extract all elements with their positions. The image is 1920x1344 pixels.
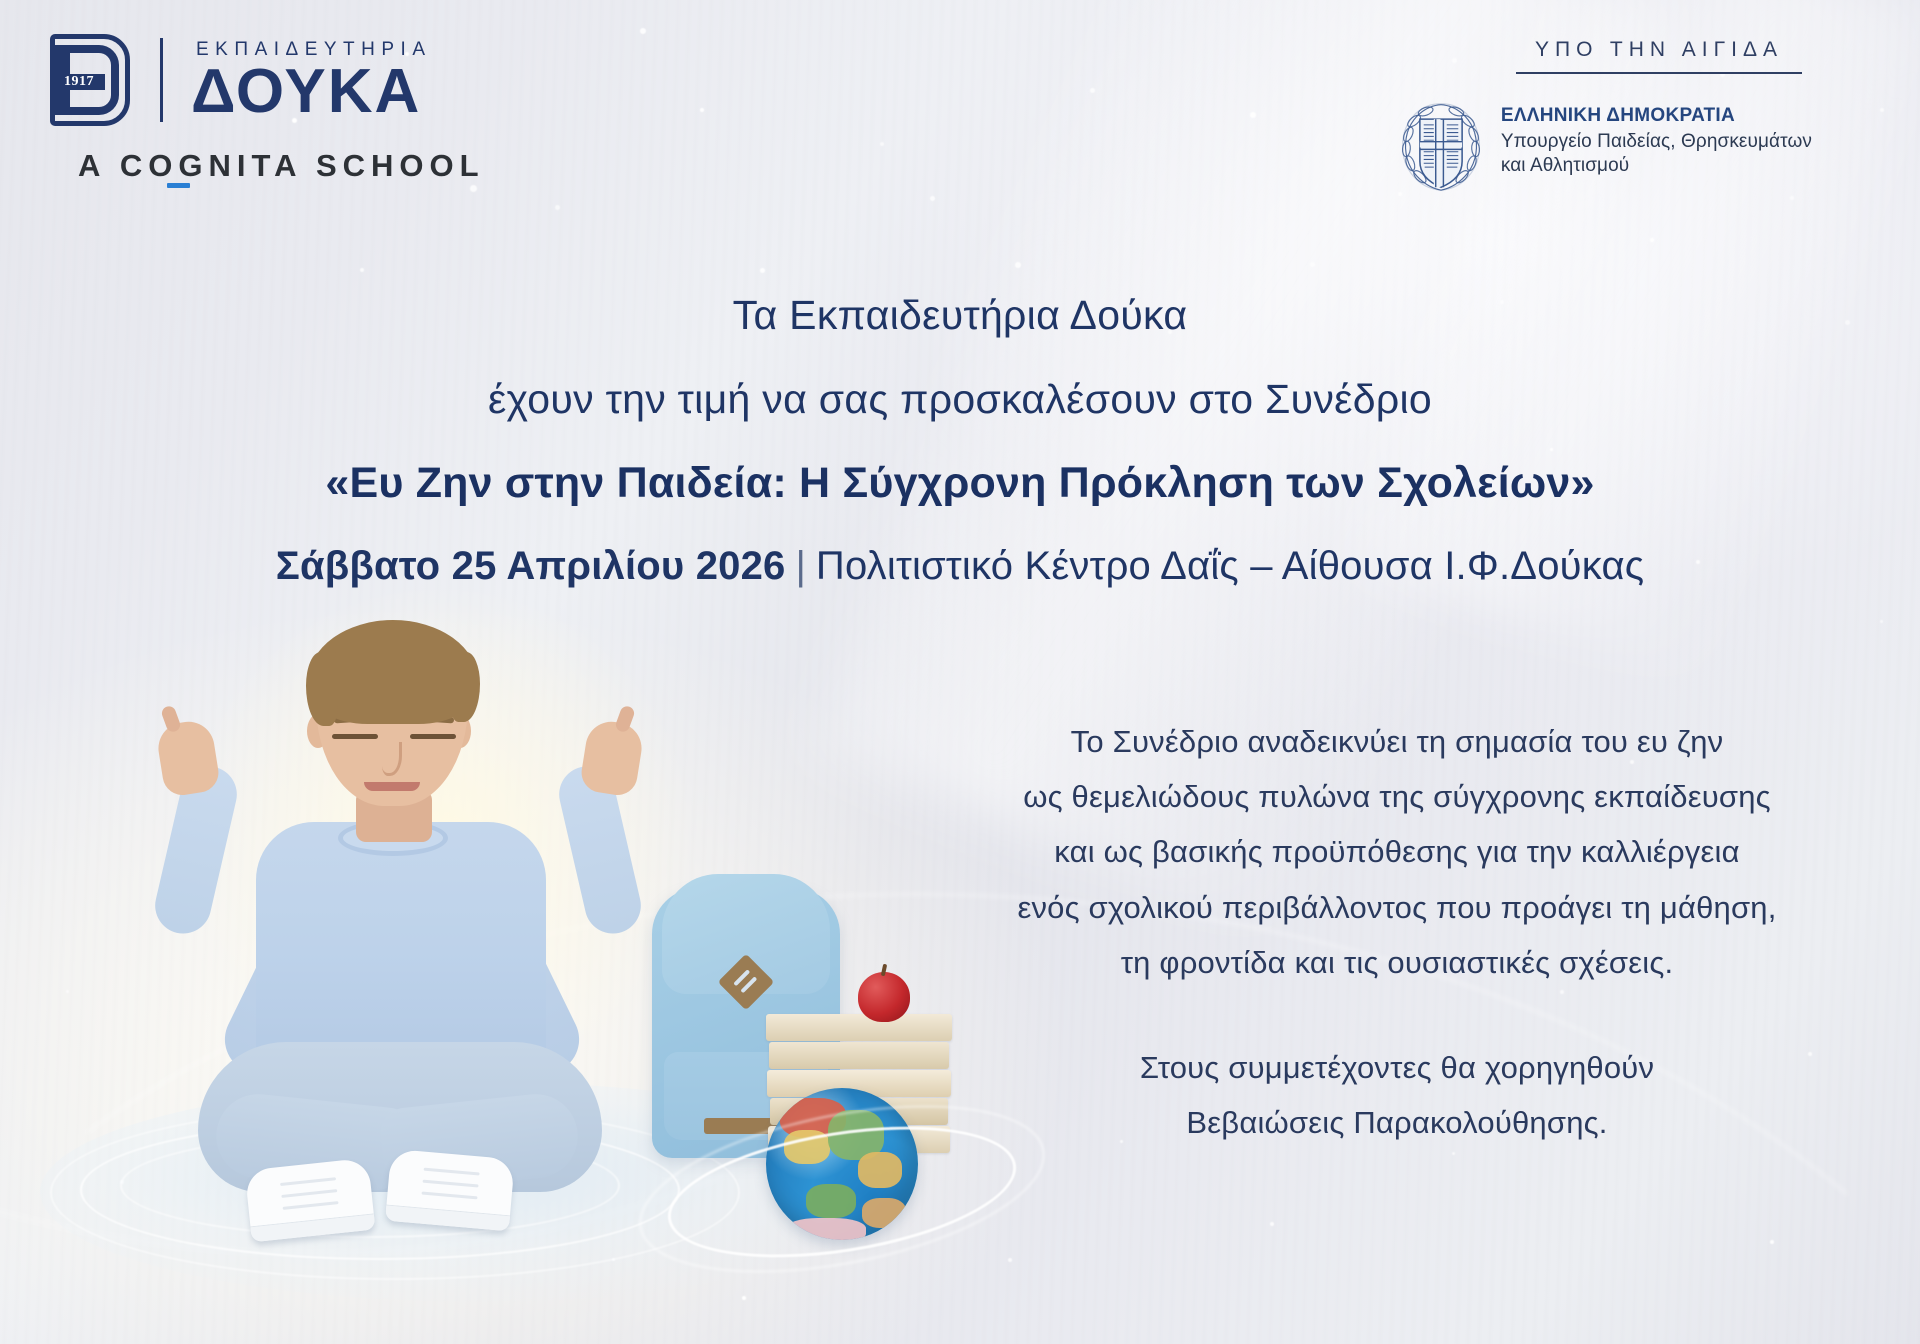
bokeh-dot (1650, 238, 1654, 242)
cognita-underline-accent (167, 183, 190, 188)
bokeh-dot (1790, 196, 1794, 200)
desc-p1-line-3: και ως βασικής προϋπόθεσης για την καλλι… (1054, 834, 1739, 869)
bokeh-dot (760, 268, 765, 273)
description-paragraph-2: Στους συμμετέχοντες θα χορηγηθούν Βεβαιώ… (982, 1040, 1812, 1150)
bokeh-dot (1270, 1222, 1274, 1226)
bokeh-dot (1770, 1240, 1774, 1244)
sneaker-left (245, 1158, 376, 1243)
bokeh-dot (360, 268, 364, 272)
desc-p2-line-2: Βεβαιώσεις Παρακολούθησης. (1186, 1105, 1607, 1140)
date-venue-separator: | (796, 544, 806, 588)
bokeh-dot (1452, 1152, 1455, 1155)
bokeh-dot (880, 142, 884, 146)
invitation-heading-block: Τα Εκπαιδευτήρια Δούκα έχουν την τιμή να… (0, 292, 1920, 589)
bokeh-dot (1015, 262, 1021, 268)
aegis-rule (1516, 72, 1802, 74)
aegis-label: ΥΠΟ ΤΗΝ ΑΙΓΙΔΑ (1516, 38, 1802, 62)
date-venue-line: Σάββατο 25 Απριλίου 2026|Πολιτιστικό Κέν… (0, 544, 1920, 589)
logo-wordmark: ΕΚΠΑΙΔΕΥΤΗΡΙΑ ΔΟΥΚΑ (191, 39, 432, 122)
conference-description: Το Συνέδριο αναδεικνύει τη σημασία του ε… (982, 714, 1812, 1150)
desc-p1-line-5: τη φροντίδα και τις ουσιαστικές σχέσεις. (1121, 945, 1674, 980)
event-date: Σάββατο 25 Απριλίου 2026 (276, 544, 786, 588)
logo-name: ΔΟΥΚΑ (191, 63, 432, 122)
sneaker-right (385, 1149, 515, 1232)
doukas-d-monogram-icon: 1917 (50, 34, 130, 126)
invitation-line-2: έχουν την τιμή να σας προσκαλέσουν στο Σ… (0, 376, 1920, 423)
bokeh-dot (1452, 58, 1457, 63)
bokeh-dot (1250, 112, 1256, 118)
bokeh-dot (1008, 1258, 1012, 1262)
paragraph-spacer (982, 990, 1812, 1040)
description-paragraph-1: Το Συνέδριο αναδεικνύει τη σημασία του ε… (982, 714, 1812, 990)
logo-divider (160, 38, 163, 122)
desc-p1-line-4: ενός σχολικού περιβάλλοντος που προάγει … (1017, 890, 1776, 925)
invitation-line-1: Τα Εκπαιδευτήρια Δούκα (0, 292, 1920, 339)
desc-p1-line-2: ως θεμελιώδους πυλώνα της σύγχρονης εκπα… (1023, 779, 1771, 814)
desc-p1-line-1: Το Συνέδριο αναδεικνύει τη σημασία του ε… (1071, 724, 1724, 759)
school-logo: 1917 ΕΚΠΑΙΔΕΥΤΗΡΙΑ ΔΟΥΚΑ A COGNITA SCHOO… (50, 34, 485, 184)
apple-object (858, 972, 910, 1022)
bokeh-dot (555, 205, 560, 210)
meditating-boy-photo (60, 620, 890, 1320)
ministry-line-2: Υπουργείο Παιδείας, Θρησκευμάτων (1501, 130, 1812, 154)
bokeh-dot (930, 196, 935, 201)
ministry-line-3: και Αθλητισμού (1501, 154, 1812, 178)
bokeh-dot (1090, 88, 1095, 93)
desc-p2-line-1: Στους συμμετέχοντες θα χορηγηθούν (1140, 1050, 1654, 1085)
bokeh-dot (1880, 108, 1884, 112)
ministry-line-1: ΕΛΛΗΝΙΚΗ ΔΗΜΟΚΡΑΤΙΑ (1501, 105, 1812, 127)
boy-figure (120, 630, 680, 1270)
bokeh-dot (640, 28, 646, 34)
logo-founded-year: 1917 (53, 74, 105, 90)
bokeh-dot (470, 185, 477, 192)
logo-row: 1917 ΕΚΠΑΙΔΕΥΤΗΡΙΑ ΔΟΥΚΑ (50, 34, 485, 126)
logo-tagline-text: A COGNITA SCHOOL (78, 148, 485, 183)
event-venue: Πολιτιστικό Κέντρο Δαΐς – Αίθουσα Ι.Φ.Δο… (816, 544, 1644, 588)
bokeh-dot (700, 108, 704, 112)
conference-title: «Ευ Ζην στην Παιδεία: Η Σύγχρονη Πρόκλησ… (0, 459, 1920, 508)
logo-tagline: A COGNITA SCHOOL (50, 148, 485, 184)
greek-coat-of-arms-icon (1393, 97, 1489, 195)
bokeh-dot (1310, 262, 1315, 267)
bokeh-dot (1880, 620, 1883, 623)
ministry-block: ΕΛΛΗΝΙΚΗ ΔΗΜΟΚΡΑΤΙΑ Υπουργείο Παιδείας, … (1393, 95, 1812, 195)
aegis-block: ΥΠΟ ΤΗΝ ΑΙΓΙΔΑ (1516, 38, 1802, 74)
ministry-text: ΕΛΛΗΝΙΚΗ ΔΗΜΟΚΡΑΤΙΑ Υπουργείο Παιδείας, … (1501, 95, 1812, 179)
